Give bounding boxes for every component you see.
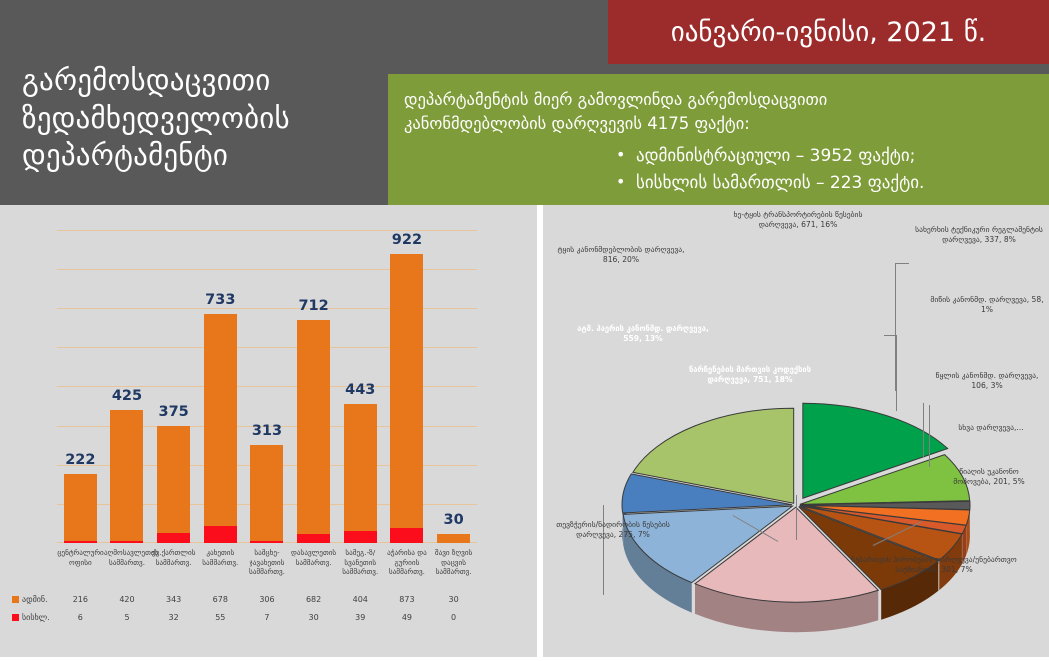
bar-value-label: 30 [443,512,463,528]
x-axis-label: აღმოსავლეთის სამმართვ. [104,548,150,577]
slide-root: გარემოსდაცვითი ზედამხედველობის დეპარტამე… [0,0,1049,657]
bar-value-label: 922 [392,232,422,248]
leader-line [884,335,897,336]
pie-chart-panel: ხე-ტყის ტრანსპორტირების წესების დარღვევა… [543,205,1049,657]
legend-value: 404 [337,595,383,604]
pie-callout-tree-transport: ხე-ტყის ტრანსპორტირების წესების დარღვევა… [718,210,878,231]
legend-value: 678 [197,595,243,604]
bar-column [64,474,97,543]
bar-value-label: 443 [345,382,375,398]
pie-callout-fishing-hunting: თევზჭერის/ნადირობის წესების დარღვევა, 27… [543,520,683,541]
legend-values-admin: 21642034367830668240487330 [57,595,477,604]
bar-group: 375 [151,230,197,543]
legend-value: 30 [291,613,337,622]
pie-callout-permit-violation: ნებართვის პირობების დარღვევა/უნებართვო ს… [843,555,1025,576]
bar-segment-criminal [250,541,283,543]
bar-column [157,426,190,543]
legend-name-criminal: სისხლ. [12,613,57,622]
x-axis-label: აჭარისა და გურიის სამმართვ. [384,548,430,577]
bar-column [344,404,377,543]
list-item: სისხლის სამართლის – 223 ფაქტი. [404,170,1033,198]
bar-group: 313 [244,230,290,543]
x-axis-label: ცენტრალური ოფისი [57,548,103,577]
x-axis-label: სამცხე-ჯავახეთის სამმართვ. [244,548,290,577]
date-badge: იანვარი-ივნისი, 2021 წ. [608,0,1049,64]
pie-callout-waste-code: ნარჩენების მართვის კოდექსის დარღვევა, 75… [674,365,826,386]
bar-segment-admin [297,320,330,533]
bar-segment-admin [344,404,377,530]
bar-column [437,534,470,543]
legend-swatch-icon [12,614,19,621]
summary-bullet-list: ადმინისტრაციული – 3952 ფაქტი; სისხლის სა… [404,143,1033,198]
x-axis-label: სამეგ.-ზ/სვანეთის სამმართვ. [337,548,383,577]
legend-value: 5 [104,613,150,622]
legend-value: 39 [337,613,383,622]
bar-column [390,254,423,543]
bar-chart-x-axis-labels: ცენტრალური ოფისიაღმოსავლეთის სამმართვ.ქვ… [57,548,477,577]
legend-value: 6 [57,613,103,622]
legend-swatch-icon [12,596,19,603]
bar-segment-criminal [297,534,330,543]
x-axis-label: კახეთის სამმართვ. [197,548,243,577]
bar-group: 425 [104,230,150,543]
bar-value-label: 733 [205,292,235,308]
x-axis-label: ქვ.ქართლის სამმართვ. [151,548,197,577]
legend-value: 32 [151,613,197,622]
bar-group: 712 [291,230,337,543]
pie-callout-water-law: წყლის კანონმდ. დარღვევა, 106, 3% [929,371,1045,392]
summary-box: დეპარტამენტის მიერ გამოვლინდა გარემოსდაც… [388,74,1049,205]
bar-segment-admin [157,426,190,533]
bar-chart-legend-table: ადმინ. 21642034367830668240487330 სისხლ.… [12,590,477,626]
legend-value: 682 [291,595,337,604]
bar-group: 733 [197,230,243,543]
bar-value-label: 375 [159,404,189,420]
legend-value: 343 [151,595,197,604]
bar-segment-admin [110,410,143,541]
bar-group: 922 [384,230,430,543]
legend-value: 0 [431,613,477,622]
leader-line [896,335,897,411]
pie-callout-sawmill-regulation: სახერხის ტექნიკური რეგლამენტის დარღვევა,… [913,225,1045,246]
bar-column [110,410,143,543]
pie-callout-forest-law: ტყის კანონმდებლობის დარღვევა, 816, 20% [549,245,693,266]
bar-column [204,314,237,543]
bar-segment-criminal [110,541,143,543]
date-badge-label: იანვარი-ივნისი, 2021 წ. [671,17,987,48]
legend-value: 30 [431,595,477,604]
bar-segment-criminal [390,528,423,543]
bar-segment-criminal [344,531,377,543]
legend-values-criminal: 65325573039490 [57,613,477,622]
bar-segment-criminal [157,533,190,543]
summary-lead-text: დეპარტამენტის მიერ გამოვლინდა გარემოსდაც… [404,88,964,136]
leader-line [929,405,930,467]
legend-value: 216 [57,595,103,604]
x-axis-label: დასავლეთის სამმართვ. [291,548,337,577]
bar-value-label: 222 [65,452,95,468]
pie-chart-plot-area: ხე-ტყის ტრანსპორტირების წესების დარღვევა… [543,205,1049,657]
legend-value: 7 [244,613,290,622]
legend-name-admin: ადმინ. [12,595,57,604]
legend-value: 306 [244,595,290,604]
legend-row-admin: ადმინ. 21642034367830668240487330 [12,590,477,608]
bar-chart-panel: 22242537573331371244392230 ცენტრალური ოფ… [0,205,540,657]
legend-value: 49 [384,613,430,622]
bar-group: 222 [57,230,103,543]
bar-segment-admin [437,534,470,543]
bar-segment-admin [204,314,237,526]
legend-label-admin: ადმინ. [22,595,48,604]
leader-line [923,403,924,457]
bar-value-label: 712 [298,298,328,314]
bar-group: 30 [431,230,477,543]
bar-column [250,445,283,543]
bar-segment-criminal [204,526,237,543]
pie-callout-mineral-extraction: წიაღის უკანონო მოპოვება, 201, 5% [943,467,1035,488]
bar-segment-admin [390,254,423,527]
bar-value-label: 313 [252,423,282,439]
bar-segment-admin [64,474,97,542]
list-item: ადმინისტრაციული – 3952 ფაქტი; [404,143,1033,171]
bar-column [297,320,330,543]
leader-line [895,263,909,264]
bar-group: 443 [337,230,383,543]
bar-chart-plot-area: 22242537573331371244392230 ცენტრალური ოფ… [57,230,477,645]
legend-value: 873 [384,595,430,604]
pie-callout-land-law: მიწის კანონმდ. დარღვევა, 58, 1% [929,295,1045,316]
bar-segment-admin [250,445,283,541]
bar-value-label: 425 [112,388,142,404]
page-title: გარემოსდაცვითი ზედამხედველობის დეპარტამე… [22,62,372,175]
legend-row-criminal: სისხლ. 65325573039490 [12,608,477,626]
leader-line [796,495,797,540]
legend-value: 420 [104,595,150,604]
pie-callout-air-law: ატმ. ჰაერის კანონმდ. დარღვევა, 559, 13% [573,324,713,345]
x-axis-label: შავი ზღვის დაცვის სამმართვ. [431,548,477,577]
bar-chart-bars: 22242537573331371244392230 [57,230,477,543]
pie-callout-other: სხვა დარღვევა,... [943,423,1039,433]
legend-value: 55 [197,613,243,622]
leader-line [603,505,604,595]
legend-label-criminal: სისხლ. [22,613,50,622]
bar-segment-criminal [64,541,97,543]
